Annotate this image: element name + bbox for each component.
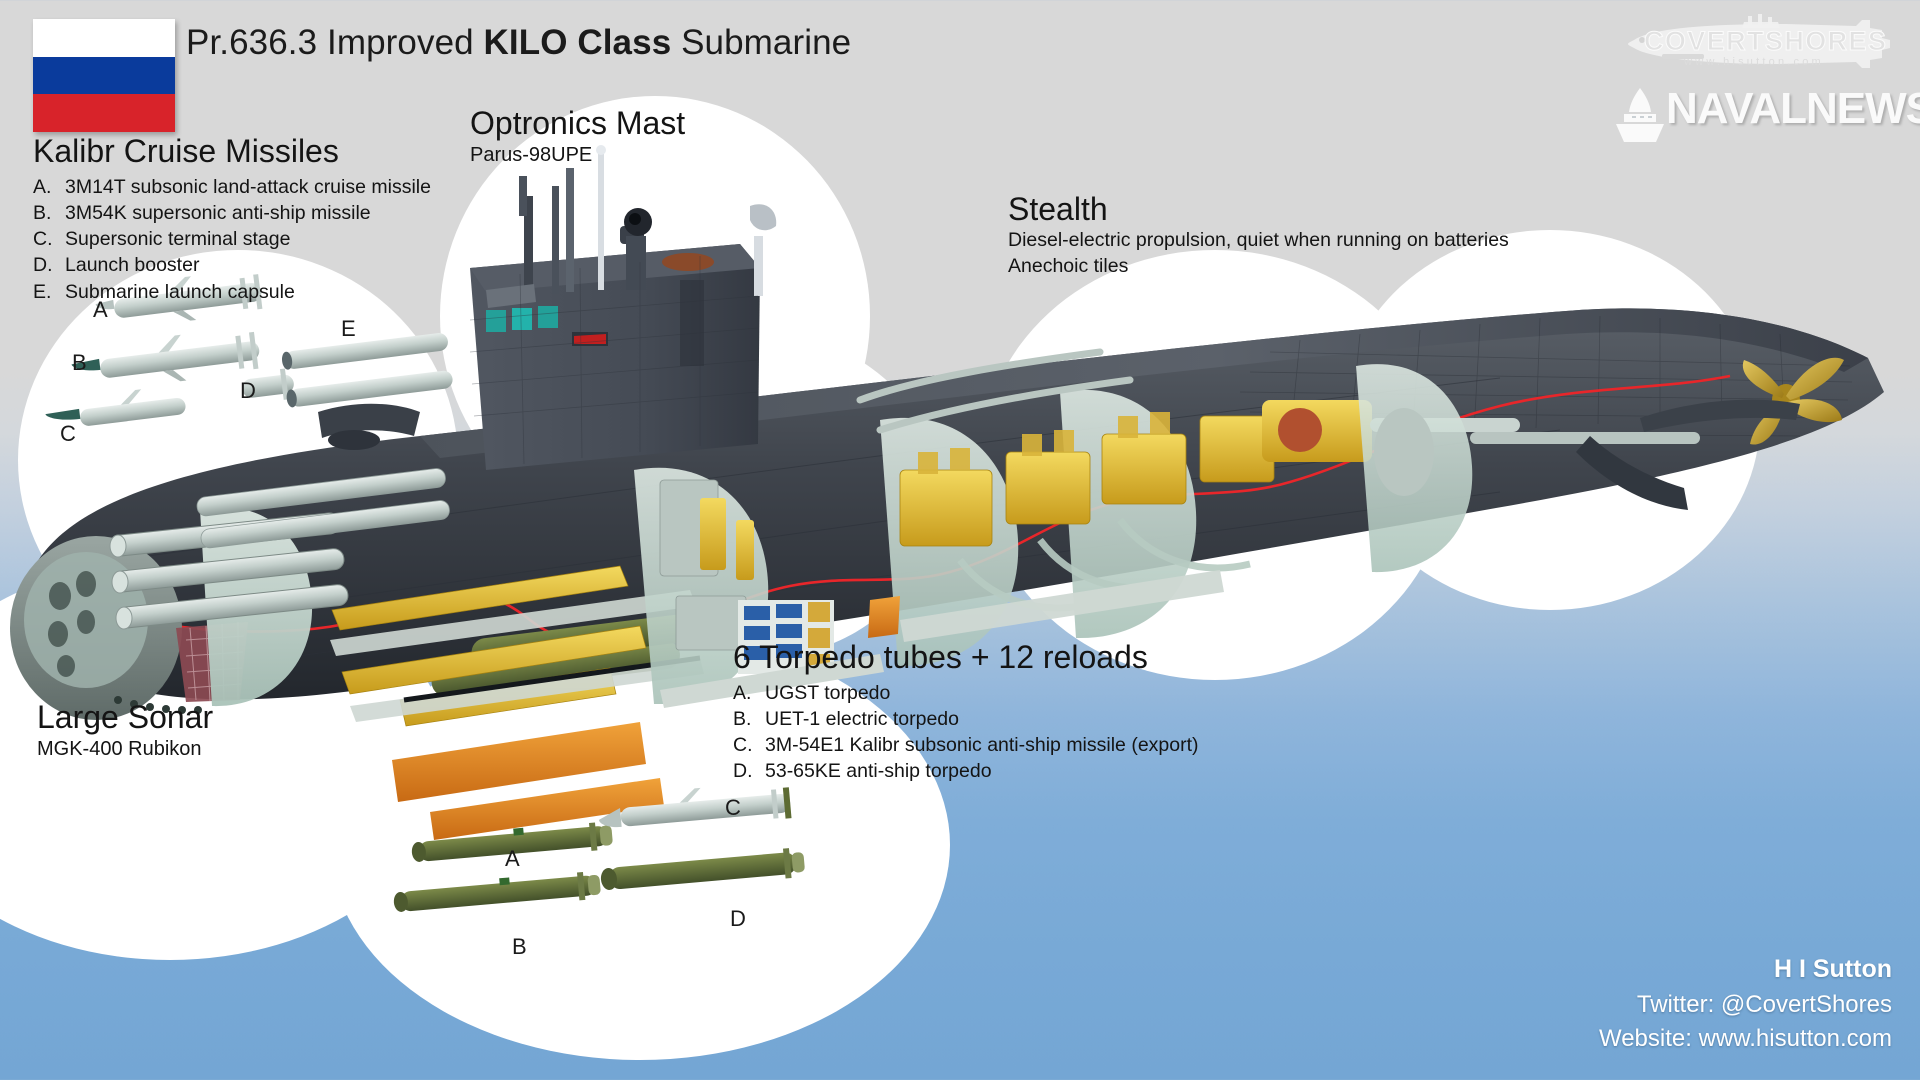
stealth-line-1: Diesel-electric propulsion, quiet when r… xyxy=(1008,228,1509,254)
navalnews-name: NAVALNEWS xyxy=(1666,84,1920,134)
item-text: 3M14T subsonic land-attack cruise missil… xyxy=(65,174,431,200)
item-text: 3M54K supersonic anti-ship missile xyxy=(65,200,371,226)
list-item: C. 3M-54E1 Kalibr subsonic anti-ship mis… xyxy=(733,732,1199,758)
title-suffix: Submarine xyxy=(671,23,851,62)
flag-band-white xyxy=(33,19,175,57)
list-item: C. Supersonic terminal stage xyxy=(33,226,431,252)
sail-conning-tower xyxy=(470,145,776,470)
credits-twitter: Twitter: @CovertShores xyxy=(1599,988,1892,1022)
list-item: B. UET-1 electric torpedo xyxy=(733,706,1199,732)
page-title: Pr.636.3 Improved KILO Class Submarine xyxy=(186,23,851,63)
logo-group: COVERTSHORES www.hisutton.com NAVALNEWS xyxy=(1486,8,1906,148)
item-key: D. xyxy=(33,252,65,278)
kalibr-label-e: E xyxy=(341,316,356,342)
title-prefix: Pr.636.3 Improved xyxy=(186,23,484,62)
sonar-subtitle: MGK-400 Rubikon xyxy=(37,736,213,762)
item-text: UGST torpedo xyxy=(765,680,890,706)
item-text: Supersonic terminal stage xyxy=(65,226,290,252)
list-item: D. 53-65KE anti-ship torpedo xyxy=(733,758,1199,784)
item-key: C. xyxy=(33,226,65,252)
russian-flag xyxy=(33,19,175,132)
item-key: E. xyxy=(33,279,65,305)
kalibr-list: A. 3M14T subsonic land-attack cruise mis… xyxy=(33,174,431,305)
kalibr-heading: Kalibr Cruise Missiles xyxy=(33,134,431,170)
torpedoes-list: A. UGST torpedo B. UET-1 electric torped… xyxy=(733,680,1199,785)
item-key: B. xyxy=(33,200,65,226)
item-text: UET-1 electric torpedo xyxy=(765,706,959,732)
stealth-heading: Stealth xyxy=(1008,192,1509,228)
optronics-heading: Optronics Mast xyxy=(470,106,685,142)
section-stealth: Stealth Diesel-electric propulsion, quie… xyxy=(1008,192,1509,280)
list-item: A. 3M14T subsonic land-attack cruise mis… xyxy=(33,174,431,200)
list-item: A. UGST torpedo xyxy=(733,680,1199,706)
infographic-canvas: Pr.636.3 Improved KILO Class Submarine C… xyxy=(0,0,1920,1080)
flag-band-blue xyxy=(33,57,175,95)
sonar-heading: Large Sonar xyxy=(37,700,213,736)
torpedoes-heading: 6 Torpedo tubes + 12 reloads xyxy=(733,640,1199,676)
item-key: C. xyxy=(733,732,765,758)
torpedo-label-a: A xyxy=(505,846,520,872)
flag-band-red xyxy=(33,94,175,132)
torpedo-label-b: B xyxy=(512,934,527,960)
item-key: B. xyxy=(733,706,765,732)
optronics-subtitle: Parus-98UPE xyxy=(470,142,685,168)
kalibr-label-d: D xyxy=(240,378,256,404)
list-item: D. Launch booster xyxy=(33,252,431,278)
item-text: 53-65KE anti-ship torpedo xyxy=(765,758,992,784)
covertshores-logo: COVERTSHORES www.hisutton.com xyxy=(1618,14,1898,80)
list-item: B. 3M54K supersonic anti-ship missile xyxy=(33,200,431,226)
section-kalibr: Kalibr Cruise Missiles A. 3M14T subsonic… xyxy=(33,134,431,305)
credits-block: H I Sutton Twitter: @CovertShores Websit… xyxy=(1599,952,1892,1056)
warship-icon xyxy=(1610,86,1670,148)
item-text: Launch booster xyxy=(65,252,199,278)
section-sonar: Large Sonar MGK-400 Rubikon xyxy=(37,700,213,762)
covertshores-name: COVERTSHORES xyxy=(1644,26,1854,57)
item-text: 3M-54E1 Kalibr subsonic anti-ship missil… xyxy=(765,732,1199,758)
item-key: A. xyxy=(733,680,765,706)
item-key: D. xyxy=(733,758,765,784)
torpedo-label-c: C xyxy=(725,795,741,821)
hull-hatch xyxy=(328,430,380,450)
credits-website: Website: www.hisutton.com xyxy=(1599,1022,1892,1056)
credits-author: H I Sutton xyxy=(1599,952,1892,988)
section-torpedoes: 6 Torpedo tubes + 12 reloads A. UGST tor… xyxy=(733,640,1199,785)
stealth-line-2: Anechoic tiles xyxy=(1008,254,1509,280)
sail-marking xyxy=(572,332,608,346)
kalibr-label-b: B xyxy=(72,350,87,376)
covertshores-url: www.hisutton.com xyxy=(1654,56,1854,68)
kalibr-label-c: C xyxy=(60,421,76,447)
navalnews-logo: NAVALNEWS xyxy=(1608,82,1898,144)
section-optronics: Optronics Mast Parus-98UPE xyxy=(470,106,685,168)
kalibr-label-a: A xyxy=(93,297,108,323)
torpedo-label-d: D xyxy=(730,906,746,932)
title-strong: KILO Class xyxy=(484,23,672,62)
item-key: A. xyxy=(33,174,65,200)
